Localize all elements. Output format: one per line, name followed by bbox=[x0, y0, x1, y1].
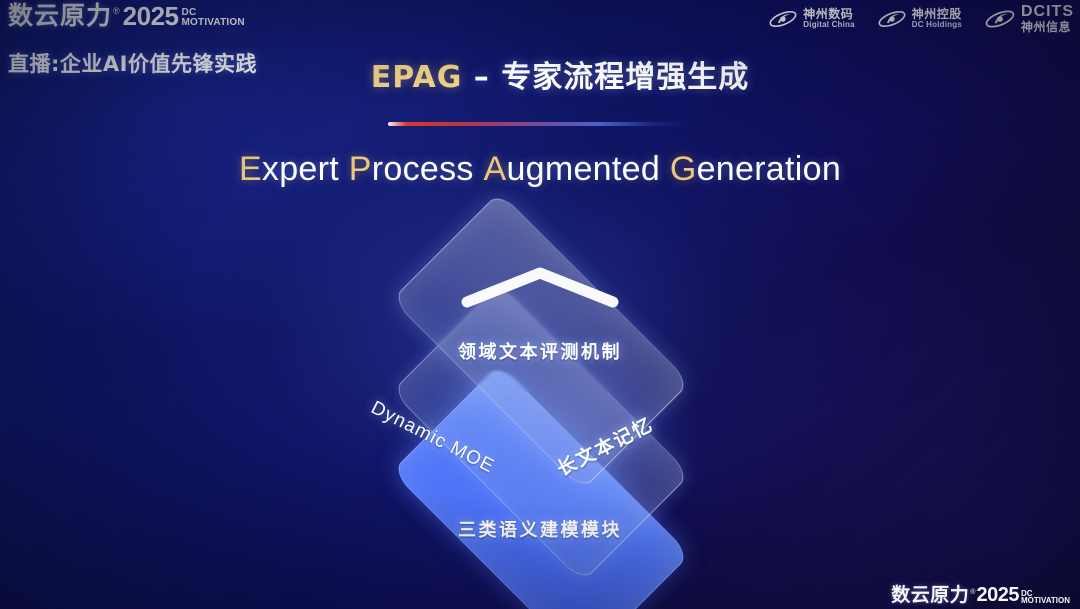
watermark-year: 2025 bbox=[976, 585, 1019, 605]
watermark-dc-line2: MOTIVATION bbox=[1021, 597, 1070, 605]
partner-name-en: Digital China bbox=[803, 21, 855, 29]
layered-architecture-diagram: 领域文本评测机制 Dynamic MOE 长文本记忆 三类语义建模模块 bbox=[290, 228, 790, 573]
subtitle-word3-rest: ugmented bbox=[506, 150, 660, 188]
partner-logo-text: DCITS 神州信息 bbox=[1021, 4, 1074, 33]
brand-registered-mark: ® bbox=[113, 6, 120, 16]
subtitle-word1-cap: E bbox=[239, 150, 262, 188]
title-separator: – bbox=[462, 60, 501, 95]
subtitle-word2-cap: P bbox=[349, 150, 372, 188]
presentation-slide: 数云原力 ® 2025 DC MOTIVATION 直播:企业AI价值先锋实践 … bbox=[0, 0, 1080, 609]
partner-name-cn: 神州数码 bbox=[803, 8, 855, 21]
swirl-logo-icon bbox=[768, 6, 798, 32]
watermark-registered-mark: ® bbox=[970, 589, 975, 596]
subtitle-word3-cap: A bbox=[483, 150, 506, 188]
title-acronym: EPAG bbox=[371, 60, 463, 95]
partner-logo-dc-holdings: 神州控股 DC Holdings bbox=[877, 6, 962, 32]
brand-logo-year: 2025 bbox=[123, 3, 179, 29]
partner-name-en: DC Holdings bbox=[912, 21, 962, 29]
page-subtitle: Expert Process Augmented Generation bbox=[0, 150, 1080, 189]
swirl-logo-icon bbox=[877, 6, 907, 32]
partner-name-en: DCITS bbox=[1021, 4, 1074, 21]
page-title: EPAG – 专家流程增强生成 bbox=[0, 52, 1080, 96]
gradient-divider bbox=[388, 122, 688, 126]
brand-logo-name-cn: 数云原力 bbox=[8, 3, 112, 28]
subtitle-word1-rest: xpert bbox=[262, 150, 339, 188]
watermark-dc-motivation: DC MOTIVATION bbox=[1021, 590, 1070, 605]
partner-name-cn: 神州控股 bbox=[912, 8, 962, 21]
subtitle-word2-rest: rocess bbox=[372, 150, 474, 188]
watermark-logo: 数云原力 ® 2025 DC MOTIVATION bbox=[891, 585, 1070, 605]
partner-name-cn: 神州信息 bbox=[1021, 21, 1074, 34]
brand-logo-dc-motivation: DC MOTIVATION bbox=[182, 8, 245, 27]
brand-dc-line2: MOTIVATION bbox=[182, 18, 245, 28]
watermark-name-cn: 数云原力 bbox=[891, 586, 969, 605]
subtitle-word4-rest: eneration bbox=[697, 150, 841, 188]
partner-logo-text: 神州控股 DC Holdings bbox=[912, 8, 962, 29]
subtitle-word4-cap: G bbox=[670, 150, 697, 188]
brand-logo: 数云原力 ® 2025 DC MOTIVATION bbox=[8, 2, 245, 28]
partner-logo-text: 神州数码 Digital China bbox=[803, 8, 855, 29]
swirl-logo-icon bbox=[984, 5, 1016, 33]
partner-logo-digital-china: 神州数码 Digital China bbox=[768, 6, 855, 32]
partner-logo-dcits: DCITS 神州信息 bbox=[984, 4, 1074, 33]
partner-logo-bar: 神州数码 Digital China 神州控股 DC Holdings bbox=[768, 4, 1074, 33]
title-chinese: 专家流程增强生成 bbox=[501, 60, 749, 95]
